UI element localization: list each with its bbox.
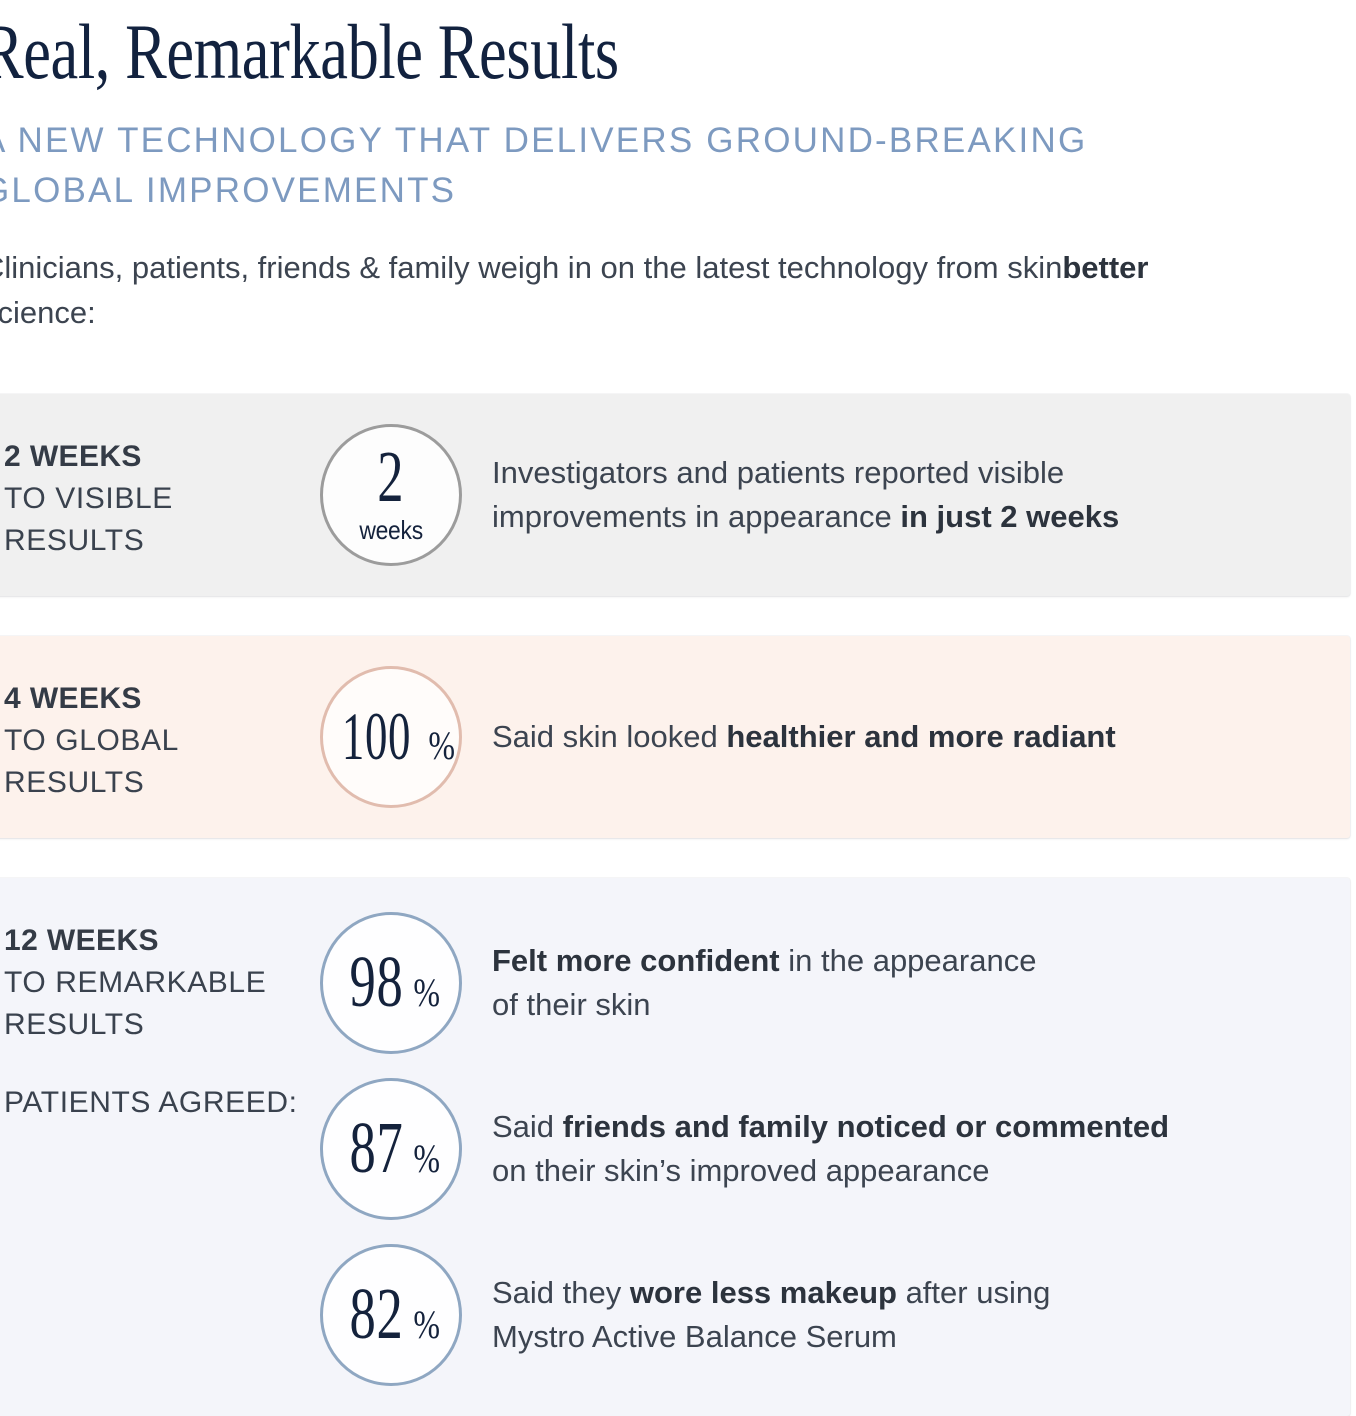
infographic-page: Real, Remarkable Results A NEW TECHNOLOG… — [0, 0, 1356, 1356]
stat-row: 82 % Said they wore less makeup after us… — [320, 1244, 1350, 1386]
panel-rows-four-weeks: 100 % Said skin looked healthier and mor… — [320, 666, 1350, 808]
stat-description-line-1: Said they wore less makeup after using — [492, 1271, 1350, 1314]
stat-circle-value-group: 82 % — [339, 1283, 443, 1346]
stat-description-line-2: on their skin’s improved appearance — [492, 1149, 1350, 1192]
stat-description-line-1-normal: in the appearance — [780, 943, 1037, 978]
panel-label-headline: 4 WEEKS — [4, 678, 320, 720]
panel-label-two-weeks: 2 WEEKS TO VISIBLE RESULTS — [0, 424, 320, 562]
stat-circle-value-group: 98 % — [339, 951, 443, 1014]
percent-sign-icon: % — [428, 726, 455, 766]
stat-circle-value: 87 — [349, 1117, 403, 1180]
percent-sign-icon: % — [413, 973, 440, 1013]
stat-description-line-1: Felt more confident in the appearance — [492, 939, 1350, 982]
stat-circle-unit: weeks — [359, 517, 423, 543]
stat-description-line-1: Investigators and patients reported visi… — [492, 451, 1350, 494]
panel-label-twelve-weeks: 12 WEEKS TO REMARKABLE RESULTS PATIENTS … — [0, 912, 320, 1124]
panel-label-subtext: TO REMARKABLE RESULTS — [4, 966, 266, 1041]
stat-row: 98 % Felt more confident in the appearan… — [320, 912, 1350, 1054]
stat-row: 87 % Said friends and family noticed or … — [320, 1078, 1350, 1220]
stat-description-line-2: improvements in appearance in just 2 wee… — [492, 495, 1350, 538]
stat-circle-value-group: 2 — [372, 446, 410, 509]
stat-circle-87-percent: 87 % — [320, 1078, 462, 1220]
stat-circle-value: 98 — [349, 951, 403, 1014]
stat-circle-100-percent: 100 % — [320, 666, 462, 808]
stat-description-line-2: Mystro Active Balance Serum — [492, 1315, 1350, 1358]
stat-description-line-1-bold: wore less makeup — [630, 1275, 897, 1310]
stat-description-line-1-normal: Said skin looked — [492, 719, 726, 754]
stat-description: Investigators and patients reported visi… — [462, 451, 1350, 538]
panel-label-subtext: TO GLOBAL RESULTS — [4, 724, 178, 799]
results-panel-list: 2 WEEKS TO VISIBLE RESULTS 2 weeks Inves… — [0, 394, 1350, 1416]
intro-text-part-1: Clinicians, patients, friends & family w… — [0, 250, 1062, 285]
panel-two-weeks: 2 WEEKS TO VISIBLE RESULTS 2 weeks Inves… — [0, 394, 1350, 596]
stat-description-line-1-bold: Felt more confident — [492, 943, 780, 978]
stat-description-line-2-normal: improvements in appearance — [492, 499, 900, 534]
stat-description-line-2-bold: in just 2 weeks — [900, 499, 1119, 534]
stat-circle-value: 2 — [378, 446, 405, 509]
stat-description-line-1-bold: healthier and more radiant — [726, 719, 1115, 754]
stat-row: 100 % Said skin looked healthier and mor… — [320, 666, 1350, 808]
panel-rows-twelve-weeks: 98 % Felt more confident in the appearan… — [320, 912, 1350, 1386]
stat-circle-value: 82 — [349, 1283, 403, 1346]
panel-label-subtext: TO VISIBLE RESULTS — [4, 482, 173, 557]
page-subtitle: A NEW TECHNOLOGY THAT DELIVERS GROUND-BR… — [0, 116, 1356, 215]
stat-description: Said they wore less makeup after using M… — [462, 1271, 1350, 1358]
stat-description-line-1-bold: friends and family noticed or commented — [563, 1109, 1169, 1144]
stat-circle-98-percent: 98 % — [320, 912, 462, 1054]
subtitle-line-1: A NEW TECHNOLOGY THAT DELIVERS GROUND-BR… — [0, 121, 1087, 160]
page-title: Real, Remarkable Results — [0, 0, 1081, 90]
stat-description-line-1-normal: Said — [492, 1109, 563, 1144]
stat-description-line-1: Said skin looked healthier and more radi… — [492, 715, 1350, 758]
intro-paragraph: Clinicians, patients, friends & family w… — [0, 246, 1232, 336]
panel-label-extra: PATIENTS AGREED: — [4, 1086, 298, 1119]
percent-sign-icon: % — [413, 1139, 440, 1179]
brand-name-better: better — [1062, 250, 1148, 285]
stat-circle-82-percent: 82 % — [320, 1244, 462, 1386]
stat-circle-value: 100 — [342, 707, 411, 765]
panel-four-weeks: 4 WEEKS TO GLOBAL RESULTS 100 % Said ski… — [0, 636, 1350, 838]
intro-text-part-2: science: — [0, 295, 96, 330]
stat-circle-value-group: 100 % — [324, 707, 458, 766]
stat-description: Felt more confident in the appearance of… — [462, 939, 1350, 1026]
stat-circle-value-group: 87 % — [339, 1117, 443, 1180]
panel-twelve-weeks: 12 WEEKS TO REMARKABLE RESULTS PATIENTS … — [0, 878, 1350, 1416]
panel-label-four-weeks: 4 WEEKS TO GLOBAL RESULTS — [0, 666, 320, 804]
subtitle-line-2: GLOBAL IMPROVEMENTS — [0, 166, 1356, 216]
stat-description-line-1: Said friends and family noticed or comme… — [492, 1105, 1350, 1148]
stat-description-line-1-normal: Said they — [492, 1275, 630, 1310]
stat-description-line-2: of their skin — [492, 983, 1350, 1026]
percent-sign-icon: % — [413, 1305, 440, 1345]
panel-label-headline: 12 WEEKS — [4, 920, 320, 962]
label-spacer — [4, 1046, 320, 1082]
stat-row: 2 weeks Investigators and patients repor… — [320, 424, 1350, 566]
stat-description: Said skin looked healthier and more radi… — [462, 715, 1350, 758]
stat-description-line-1-tail: after using — [897, 1275, 1050, 1310]
panel-label-headline: 2 WEEKS — [4, 436, 320, 478]
stat-description: Said friends and family noticed or comme… — [462, 1105, 1350, 1192]
stat-circle-2-weeks: 2 weeks — [320, 424, 462, 566]
panel-rows-two-weeks: 2 weeks Investigators and patients repor… — [320, 424, 1350, 566]
